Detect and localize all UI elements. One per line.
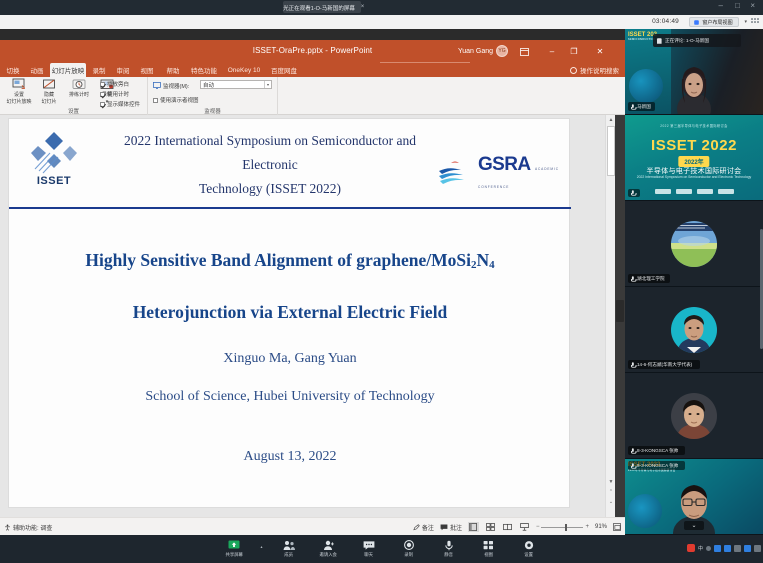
comment-icon <box>440 524 448 531</box>
layout-icon <box>694 20 699 25</box>
drag-handle[interactable] <box>751 18 759 26</box>
isset-logo: ISSET <box>23 129 85 195</box>
tab-baidu-netdisk[interactable]: 百度网盘 <box>268 63 300 77</box>
toolbar-participants[interactable]: 成员 <box>275 540 303 558</box>
participant-tile-3[interactable]: 湖北理工学院 <box>625 201 763 287</box>
tray-ime-indicator[interactable]: 中 <box>698 545 703 552</box>
tray-app-icon[interactable] <box>744 545 751 552</box>
invite-icon <box>323 540 335 551</box>
slideshow-view-button[interactable] <box>519 522 530 532</box>
powerpoint-status-bar: 辅助功能: 调查 备注 批注 <box>0 517 625 535</box>
splitter-handle[interactable] <box>616 300 624 322</box>
account-name: Yuan Gang <box>458 48 493 55</box>
isset-mark-icon <box>30 129 78 175</box>
tile-name-label: 马新国 <box>637 103 651 109</box>
microphone-icon <box>631 104 635 110</box>
system-tray[interactable]: 中 <box>687 544 761 552</box>
setup-slideshow-button[interactable]: 设置 幻灯片放映 <box>4 78 34 108</box>
tab-slideshow[interactable]: 幻灯片放映 <box>50 63 86 77</box>
banner-subtitle-en: 2022 International Symposium on Semicond… <box>625 175 763 180</box>
toolbar-mute[interactable]: 静音 <box>435 540 463 558</box>
checkbox-icon <box>100 92 105 97</box>
speaker-toast: 正在评论: 1-O-马新国 <box>653 34 741 47</box>
zoom-slider[interactable]: − + <box>536 524 589 530</box>
slide-title-line1: Highly Sensitive Band Alignment of graph… <box>23 237 557 289</box>
tile-name-badge: 马新国 <box>628 102 655 111</box>
checkbox-presenter-view-label: 使用演示者视图 <box>160 96 199 104</box>
close-icon[interactable]: × <box>750 2 755 10</box>
meeting-share-tab-label: 光正在观看1-O-马新国的屏幕 <box>283 3 355 11</box>
slide-title: Highly Sensitive Band Alignment of graph… <box>23 237 557 336</box>
normal-view-icon <box>469 523 477 531</box>
scrollbar-thumb[interactable] <box>607 126 615 176</box>
comments-button[interactable]: 批注 <box>440 523 462 532</box>
monitor-select-value: 自动 <box>203 81 214 89</box>
zoom-in-button[interactable]: + <box>585 524 589 530</box>
meeting-timer: 03:04:49 <box>652 18 679 25</box>
gsra-wave-icon <box>437 160 475 188</box>
setup-slideshow-label-2: 幻灯片放映 <box>6 100 31 106</box>
toolbar-invite-label: 邀请入会 <box>320 552 337 558</box>
toolbar-participants-label: 成员 <box>284 552 293 558</box>
normal-view-button[interactable] <box>468 522 479 532</box>
tab-view[interactable]: 视图 <box>136 63 158 77</box>
toolbar-share-screen-label: 共享屏幕 <box>226 552 243 558</box>
monitor-select[interactable]: 自动 ▾ <box>200 80 272 89</box>
tile6-globe <box>628 494 662 528</box>
checkbox-play-narrations[interactable]: 播放旁白 <box>100 80 129 88</box>
tray-cloud-icon[interactable] <box>734 545 741 552</box>
tile-name-badge: 湖北理工学院 <box>628 274 670 283</box>
slide-canvas-area: ISSET 2022 International Symposium on Se… <box>0 115 625 517</box>
status-right: 备注 批注 − <box>413 522 621 532</box>
participant-tile-banner[interactable]: 2022 第三届半导体与电子技术国际研讨会 ISSET 2022 2022年 半… <box>625 115 763 201</box>
participant-tile-4[interactable]: 14-6-何志斌(华南大学代表) <box>625 287 763 373</box>
toolbar-settings[interactable]: 设置 <box>515 540 543 558</box>
hide-slide-label-1: 隐藏 <box>44 93 54 99</box>
checkbox-icon <box>100 102 105 107</box>
speaker-face <box>676 59 712 115</box>
rehearse-timings-button[interactable]: 排练计时 <box>64 78 94 108</box>
isset-logo-text: ISSET <box>37 175 71 187</box>
tile-name-badge: 14-6-何志斌(华南大学代表) <box>628 360 700 369</box>
slide-date: August 13, 2022 <box>23 449 557 465</box>
microphone-icon <box>631 190 635 196</box>
account-area[interactable]: Yuan Gang YG <box>458 45 508 57</box>
accessibility-status[interactable]: 辅助功能: 调查 <box>4 523 52 532</box>
close-icon[interactable]: ✕ <box>593 45 607 58</box>
participants-icon <box>283 540 295 551</box>
checkbox-icon <box>100 82 105 87</box>
notes-icon <box>413 524 420 531</box>
accessibility-icon <box>4 524 11 531</box>
zoom-out-button[interactable]: − <box>536 524 540 530</box>
tab-onekey[interactable]: OneKey 10 <box>224 63 264 77</box>
hide-slide-label-2: 幻灯片 <box>41 100 56 106</box>
tile-name-label: 8-3-KONGSCA 张帅 <box>637 462 678 468</box>
participant-tile-6[interactable]: ISSET 20222022年半导体与电子技术国际研讨会 ⌄ <box>625 459 763 535</box>
chevron-down-icon[interactable]: ▾ <box>264 81 271 88</box>
microphone-icon <box>631 276 635 282</box>
tab-help[interactable]: 帮助 <box>162 63 184 77</box>
gsra-logo: GSRA ACADEMIC CONFERENCE <box>437 157 563 191</box>
avatar <box>671 221 717 267</box>
tray-network-icon[interactable] <box>714 545 721 552</box>
notes-button[interactable]: 备注 <box>413 523 434 532</box>
screen-root: 光正在观看1-O-马新国的屏幕 × – □ × 03:04:49 窗户布局视图 … <box>0 0 763 563</box>
tile-name-badge: 8-3-KONGSCA 张帅 <box>628 461 685 470</box>
ribbon-group-monitor: 监视器(M): 自动 ▾ 使用演示者视图 监视器 <box>148 77 278 115</box>
toolbar-invite[interactable]: 邀请入会 <box>315 540 343 558</box>
avatar <box>671 393 717 439</box>
slideshow-setup-icon <box>12 78 27 92</box>
meeting-toolbar: 共享屏幕 ▴ 成员 邀请入会 聊天 <box>0 535 763 563</box>
record-icon <box>403 540 415 551</box>
slide-title-line2: Heterojunction via External Electric Fie… <box>23 289 557 336</box>
tile-name-badge: 8-3-KONGSCA 张帅 <box>628 446 685 455</box>
reading-view-button[interactable] <box>502 522 513 532</box>
comments-label: 批注 <box>450 523 462 532</box>
ribbon-display-options-icon[interactable] <box>517 45 531 58</box>
ribbon-group-monitor-label: 监视器 <box>148 107 277 115</box>
toolbar-share-screen[interactable]: 共享屏幕 <box>220 540 248 558</box>
reading-view-icon <box>503 523 512 531</box>
tab-recording[interactable]: 录制 <box>88 63 110 77</box>
lightbulb-icon <box>570 67 577 74</box>
slide-header-title: 2022 International Symposium on Semicond… <box>95 129 445 201</box>
powerpoint-titlebar: ISSET-OraPre.pptx - PowerPoint Yuan Gang… <box>0 40 625 63</box>
banner-sponsor-logos <box>625 189 763 194</box>
microphone-icon <box>631 362 635 368</box>
chevron-down-icon[interactable]: ▾ <box>744 19 747 25</box>
slide-authors: Xinguo Ma, Gang Yuan <box>23 351 557 367</box>
meeting-share-tab[interactable]: 光正在观看1-O-马新国的屏幕 × <box>283 1 361 13</box>
screen-share-icon <box>228 540 240 551</box>
participant-rail[interactable]: ISSET 202SEMICONDUCTOR & ELECTRONIC 正在 <box>625 29 763 535</box>
slide-header-line1: 2022 International Symposium on Semicond… <box>95 129 445 177</box>
tray-dot-icon[interactable] <box>706 546 711 551</box>
toolbar-view[interactable]: 视图 <box>475 540 503 558</box>
checkbox-presenter-view[interactable]: 使用演示者视图 <box>153 96 199 104</box>
checkbox-icon <box>153 98 158 103</box>
banner-graphic: 2022 第三届半导体与电子技术国际研讨会 ISSET 2022 2022年 半… <box>625 115 763 200</box>
chat-icon <box>363 540 375 551</box>
meeting-timer-bar: 03:04:49 窗户布局视图 ▾ <box>0 15 763 29</box>
tile-name-label: 14-6-何志斌(华南大学代表) <box>637 361 692 367</box>
tab-features[interactable]: 特色功能 <box>188 63 220 77</box>
tray-overflow-icon[interactable] <box>754 545 761 552</box>
zoom-knob[interactable] <box>565 524 567 531</box>
ribbon-group-setup: 设置 幻灯片放映 隐藏 幻灯片 排练计时 <box>0 77 148 115</box>
toolbar-settings-label: 设置 <box>524 552 533 558</box>
tile-name-label: 湖北理工学院 <box>637 275 665 281</box>
powerpoint-window: ISSET-OraPre.pptx - PowerPoint Yuan Gang… <box>0 29 625 535</box>
slide-sorter-icon <box>486 523 495 531</box>
monitor-label: 监视器(M): <box>163 82 189 90</box>
hide-slide-icon <box>42 78 57 92</box>
tab-animations[interactable]: 动画 <box>26 63 48 77</box>
layout-view-label: 窗户布局视图 <box>702 18 732 25</box>
toolbar-chat[interactable]: 聊天 <box>355 540 383 558</box>
checkbox-use-timings-label: 使用计时 <box>107 90 129 98</box>
accessibility-label: 辅助功能: 调查 <box>13 523 52 532</box>
setup-slideshow-label-1: 设置 <box>14 93 24 99</box>
sogou-input-icon[interactable] <box>687 544 695 552</box>
tab-review[interactable]: 审阅 <box>112 63 134 77</box>
fit-slide-button[interactable] <box>613 523 621 531</box>
tile-name-badge <box>628 189 640 197</box>
tab-transitions[interactable]: 切换 <box>2 63 24 77</box>
window-edge-splitter[interactable] <box>615 115 625 517</box>
ribbon-body: 设置 幻灯片放映 隐藏 幻灯片 排练计时 <box>0 77 625 115</box>
ribbon-tab-strip: 切换 动画 幻灯片放映 录制 审阅 视图 帮助 特色功能 OneKey 10 百… <box>0 63 625 77</box>
participant-tile-speaker[interactable]: ISSET 202SEMICONDUCTOR & ELECTRONIC 正在 <box>625 29 763 115</box>
zoom-track[interactable] <box>541 527 583 528</box>
speaker-toast-label: 正在评论: 1-O-马新国 <box>665 37 709 43</box>
status-left: 辅助功能: 调查 <box>4 523 52 532</box>
slide-title-sub2: 4 <box>489 259 495 271</box>
toolbar-mute-label: 静音 <box>444 552 453 558</box>
toolbar-chat-label: 聊天 <box>364 552 373 558</box>
hide-slide-button[interactable]: 隐藏 幻灯片 <box>34 78 64 108</box>
slide-title-line1-a: Highly Sensitive Band Alignment of graph… <box>85 250 471 270</box>
powerpoint-document-title: ISSET-OraPre.pptx - PowerPoint <box>0 46 625 55</box>
rehearse-timings-icon <box>72 78 87 92</box>
checkbox-play-narrations-label: 播放旁白 <box>107 80 129 88</box>
bell-icon <box>657 38 662 44</box>
minimize-icon[interactable]: – <box>719 2 723 10</box>
toolbar-record[interactable]: 录制 <box>395 540 423 558</box>
checkbox-use-timings[interactable]: 使用计时 <box>100 90 129 98</box>
banner-top-line: 2022 第三届半导体与电子技术国际研讨会 <box>625 123 763 128</box>
tell-me-search[interactable]: 操作说明搜索 <box>570 63 619 77</box>
zoom-value[interactable]: 91% <box>595 524 607 530</box>
tray-volume-icon[interactable] <box>724 545 731 552</box>
participant-tile-5[interactable]: 8-3-KONGSCA 张帅 <box>625 373 763 459</box>
slide-sorter-button[interactable] <box>485 522 496 532</box>
slide-header-rule <box>9 207 571 209</box>
avatar: YG <box>496 45 508 57</box>
chevron-down-icon[interactable]: ⌄ <box>684 521 704 530</box>
tile-name-label: 8-3-KONGSCA 张帅 <box>637 447 678 453</box>
slideshow-view-icon <box>520 523 529 531</box>
settings-gear-icon <box>523 540 535 551</box>
restore-icon[interactable]: ❐ <box>567 45 581 58</box>
banner-title: ISSET 2022 <box>625 137 763 154</box>
microphone-icon <box>443 540 455 551</box>
toolbar-record-label: 录制 <box>404 552 413 558</box>
powerpoint-top-shade <box>0 29 625 40</box>
rehearse-timings-label: 排练计时 <box>69 93 89 99</box>
gsra-text: GSRA <box>478 154 531 175</box>
notes-label: 备注 <box>422 523 434 532</box>
microphone-icon <box>631 463 635 469</box>
grid-view-icon <box>483 540 495 551</box>
speaker-backdrop-globe <box>629 69 663 103</box>
chevron-up-icon[interactable]: ▴ <box>260 544 262 549</box>
slide-header-line2: Technology (ISSET 2022) <box>95 177 445 201</box>
ribbon-group-setup-label: 设置 <box>0 107 147 115</box>
meeting-titlebar: 光正在观看1-O-马新国的屏幕 × – □ × <box>0 0 763 15</box>
slide-header: ISSET 2022 International Symposium on Se… <box>9 119 571 207</box>
tell-me-label: 操作说明搜索 <box>580 65 619 75</box>
toolbar-view-label: 视图 <box>484 552 493 558</box>
avatar <box>671 307 717 353</box>
minimize-icon[interactable]: – <box>545 45 559 58</box>
maximize-icon[interactable]: □ <box>735 2 740 10</box>
slide-title-line1-b: N <box>476 250 489 270</box>
monitor-icon <box>153 82 160 88</box>
canvas-scrollbar[interactable]: ▲ ▼ ⌃ ⌄ <box>605 115 615 517</box>
microphone-icon <box>631 448 635 454</box>
slide-affiliation: School of Science, Hubei University of T… <box>23 389 557 405</box>
layout-view-button[interactable]: 窗户布局视图 <box>689 17 739 27</box>
close-icon[interactable]: × <box>361 4 365 10</box>
slide-surface[interactable]: ISSET 2022 International Symposium on Se… <box>8 118 570 508</box>
